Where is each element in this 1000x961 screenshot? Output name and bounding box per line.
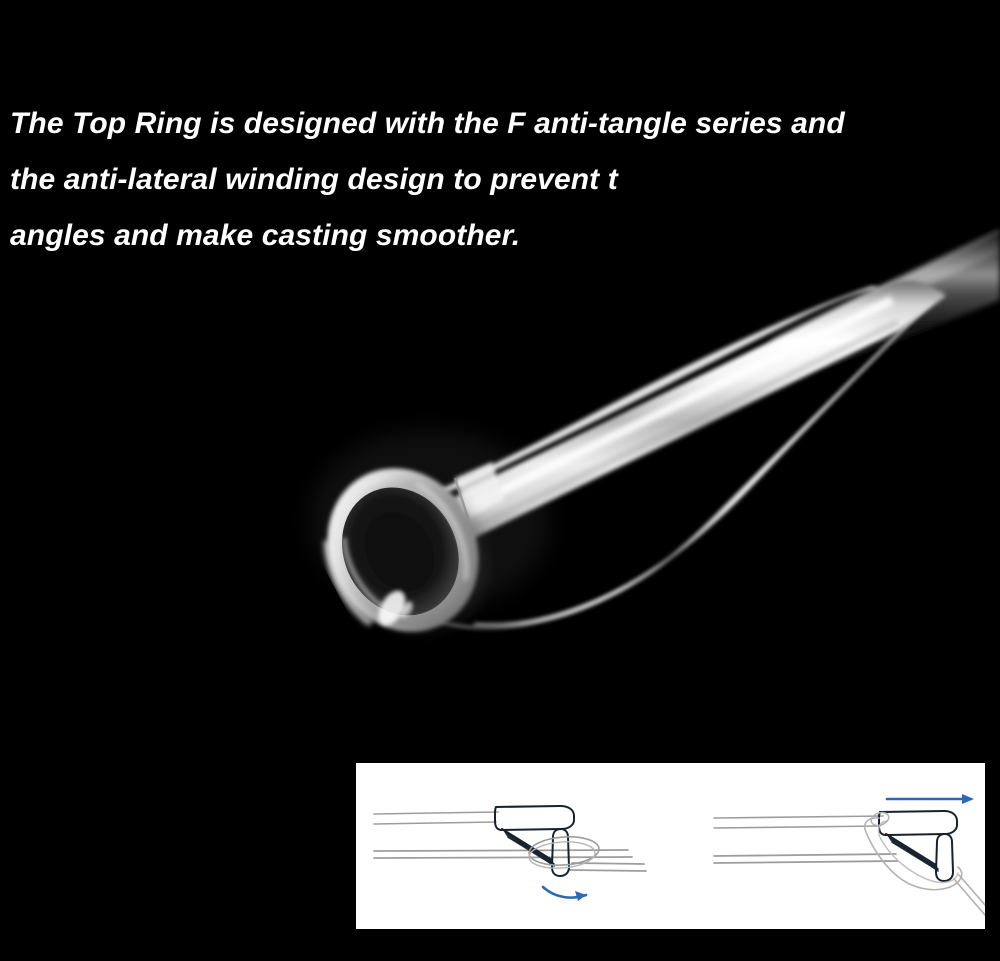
diagram-background	[356, 763, 985, 929]
feature-caption: The Top Ring is designed with the F anti…	[10, 96, 1000, 264]
photo-bloom	[310, 430, 550, 610]
caption-line-3: angles and make casting smoother.	[10, 208, 1000, 264]
anti-tangle-diagram-panel	[356, 763, 985, 929]
product-feature-image: The Top Ring is designed with the F anti…	[0, 0, 1000, 961]
caption-line-1: The Top Ring is designed with the F anti…	[10, 96, 1000, 152]
caption-line-2: the anti-lateral winding design to preve…	[10, 152, 1000, 208]
